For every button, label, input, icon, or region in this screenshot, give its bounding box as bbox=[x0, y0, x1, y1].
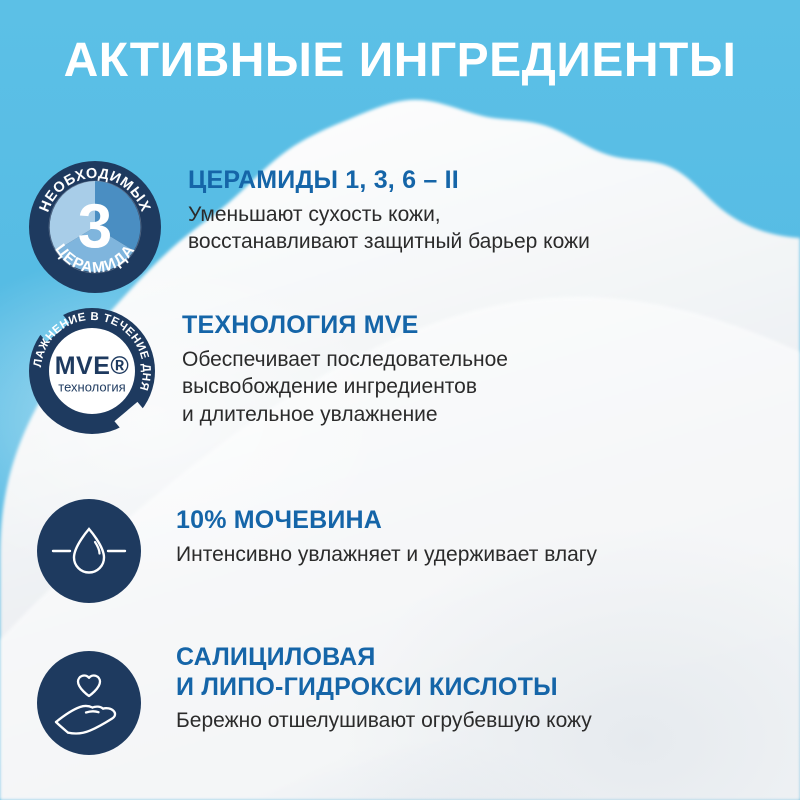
description-line: Бережно отшелушивают огрубевшую кожу bbox=[176, 707, 766, 735]
ingredient-list: НЕОБХОДИМЫХ ЦЕРАМИДА 3 ЦЕРАМИДЫ 1, 3, 6 … bbox=[0, 0, 800, 800]
ingredient-row-urea: 10% МОЧЕВИНА Интенсивно увлажняет и удер… bbox=[26, 488, 766, 614]
ingredient-heading: ЦЕРАМИДЫ 1, 3, 6 – II bbox=[188, 166, 766, 196]
description-line: и длительное увлажнение bbox=[182, 401, 766, 429]
ingredient-description: Бережно отшелушивают огрубевшую кожу bbox=[176, 707, 766, 735]
heading-line: САЛИЦИЛОВАЯ bbox=[176, 643, 766, 673]
badge-center-number: 3 bbox=[78, 193, 112, 262]
ingredients-infographic: АКТИВНЫЕ ИНГРЕДИЕНТЫ bbox=[0, 0, 800, 800]
ingredient-text-acids: САЛИЦИЛОВАЯ И ЛИПО-ГИДРОКСИ КИСЛОТЫ Бере… bbox=[152, 640, 766, 735]
ingredient-heading: ТЕХНОЛОГИЯ MVE bbox=[182, 311, 766, 341]
ingredient-row-acids: САЛИЦИЛОВАЯ И ЛИПО-ГИДРОКСИ КИСЛОТЫ Бере… bbox=[26, 640, 766, 766]
description-line: восстанавливают защитный барьер кожи bbox=[188, 228, 766, 256]
description-line: Обеспечивает последовательное bbox=[182, 346, 766, 374]
mve-badge-subtitle: технология bbox=[58, 380, 125, 395]
ingredient-text-ceramides: ЦЕРАМИДЫ 1, 3, 6 – II Уменьшают сухость … bbox=[164, 158, 766, 256]
ingredient-text-urea: 10% МОЧЕВИНА Интенсивно увлажняет и удер… bbox=[152, 488, 766, 568]
description-line: высвобождение ингредиентов bbox=[182, 373, 766, 401]
ingredient-text-mve: ТЕХНОЛОГИЯ MVE Обеспечивает последовател… bbox=[158, 305, 766, 429]
water-droplet-icon bbox=[26, 488, 152, 614]
three-ceramides-badge: НЕОБХОДИМЫХ ЦЕРАМИДА 3 bbox=[26, 158, 164, 296]
description-line: Уменьшают сухость кожи, bbox=[188, 201, 766, 229]
ingredient-description: Уменьшают сухость кожи, восстанавливают … bbox=[188, 201, 766, 256]
description-line: Интенсивно увлажняет и удерживает влагу bbox=[176, 541, 766, 569]
heading-line: И ЛИПО-ГИДРОКСИ КИСЛОТЫ bbox=[176, 673, 766, 703]
hand-holding-heart-icon bbox=[26, 640, 152, 766]
ingredient-description: Обеспечивает последовательное высвобожде… bbox=[182, 346, 766, 429]
mve-badge-title: MVE® bbox=[55, 352, 130, 380]
mve-technology-badge: УВЛАЖНЕНИЕ В ТЕЧЕНИЕ ДНЯ MVE® технология bbox=[26, 305, 158, 437]
ingredient-row-mve: УВЛАЖНЕНИЕ В ТЕЧЕНИЕ ДНЯ MVE® технология… bbox=[26, 305, 766, 437]
ingredient-description: Интенсивно увлажняет и удерживает влагу bbox=[176, 541, 766, 569]
ingredient-heading: 10% МОЧЕВИНА bbox=[176, 506, 766, 536]
ingredient-row-ceramides: НЕОБХОДИМЫХ ЦЕРАМИДА 3 ЦЕРАМИДЫ 1, 3, 6 … bbox=[26, 158, 766, 296]
ingredient-heading: САЛИЦИЛОВАЯ И ЛИПО-ГИДРОКСИ КИСЛОТЫ bbox=[176, 643, 766, 702]
